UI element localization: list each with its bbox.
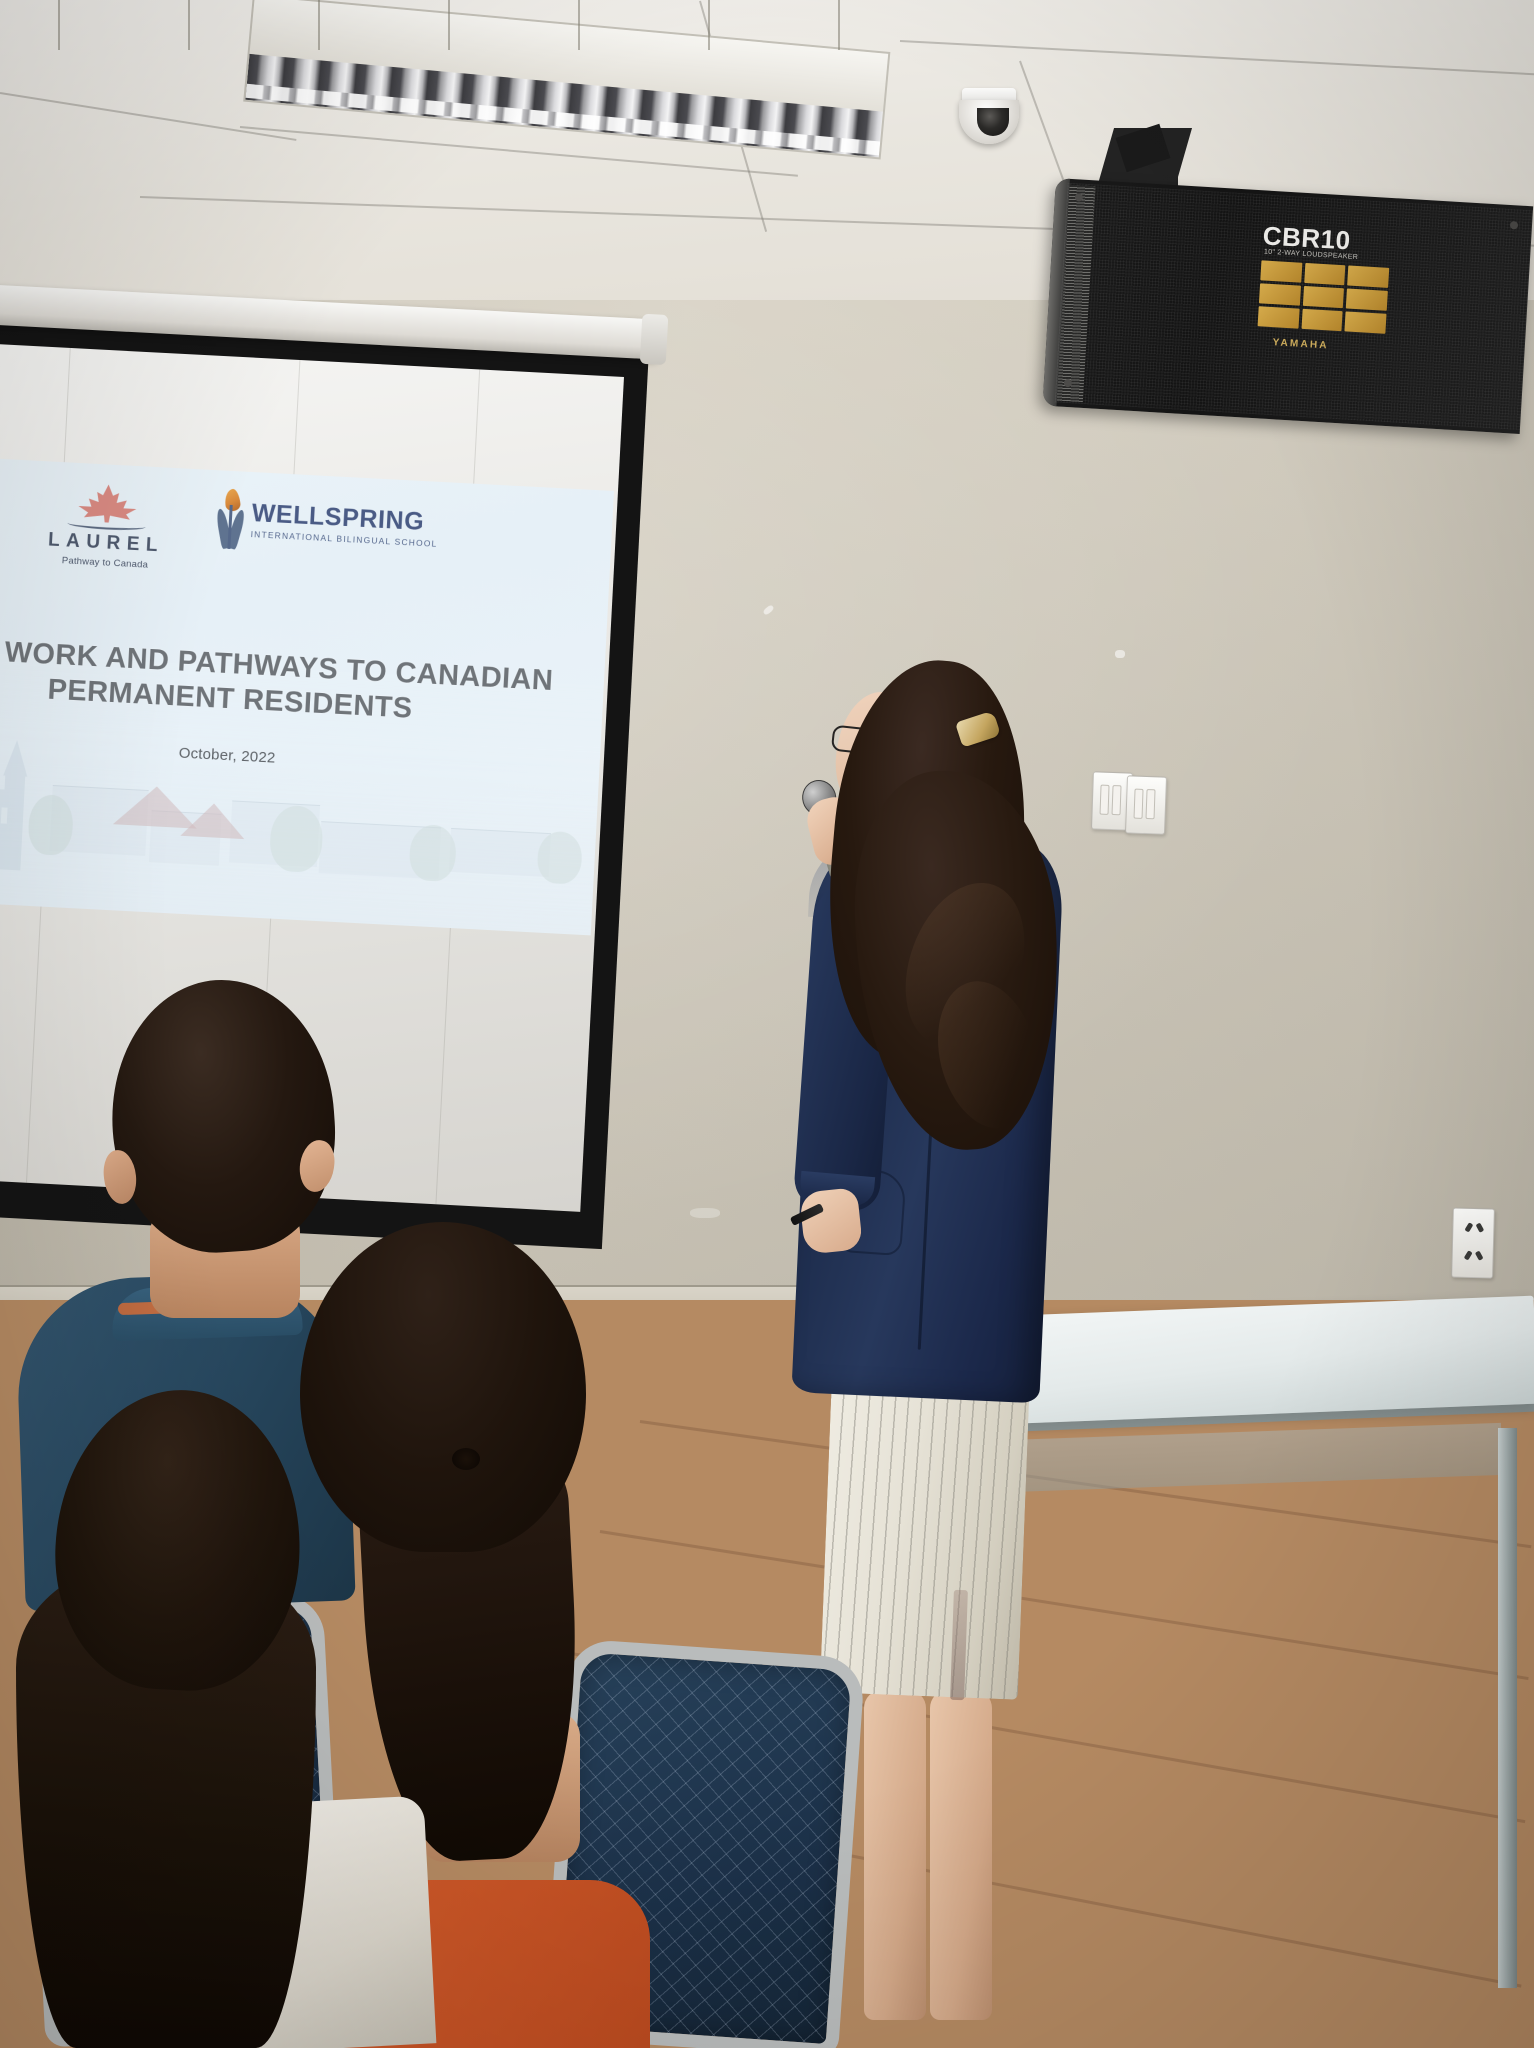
dado-grout-line — [188, 0, 190, 50]
presenter-leg — [864, 1690, 926, 2020]
table-leg — [1498, 1428, 1517, 1988]
dado-grout-line — [448, 0, 450, 50]
presenter-leg — [930, 1690, 992, 2020]
dado-grout-line — [578, 0, 580, 50]
dado-grout-line — [838, 0, 840, 50]
dado-grout-line — [318, 0, 320, 50]
wall-scuff — [1115, 650, 1125, 658]
laurel-logo: LAUREL Pathway to Canada — [38, 479, 176, 572]
outlet-slot — [1464, 1250, 1473, 1260]
audience-member-head — [300, 1222, 586, 1552]
switch-rocker[interactable] — [1146, 789, 1156, 819]
maple-leaf-icon — [74, 481, 142, 524]
slide-logo-row: LAUREL Pathway to Canada WELLSPRING INTE… — [0, 470, 613, 587]
wellspring-logo: WELLSPRING INTERNATIONAL BILINGUAL SCHOO… — [217, 488, 440, 559]
wellspring-text: WELLSPRING INTERNATIONAL BILINGUAL SCHOO… — [250, 501, 439, 549]
wall-scuff — [690, 1208, 720, 1218]
switch-rocker[interactable] — [1112, 785, 1122, 815]
hair-tie — [452, 1448, 480, 1470]
speaker-award-badge — [1258, 260, 1390, 333]
outlet-slot — [1464, 1222, 1473, 1232]
screen-case-endcap — [640, 314, 669, 365]
presenter-hand — [799, 1187, 863, 1255]
switch-rocker[interactable] — [1134, 789, 1144, 819]
outlet-slot — [1475, 1251, 1484, 1261]
torch-icon — [217, 488, 246, 549]
laurel-tagline: Pathway to Canada — [62, 555, 149, 571]
dado-grout-line — [708, 0, 710, 50]
photo-scene: LAUREL Pathway to Canada WELLSPRING INTE… — [0, 0, 1534, 2048]
wall-power-outlet[interactable] — [1451, 1207, 1495, 1278]
outlet-slot — [1476, 1223, 1485, 1233]
light-switch-plate[interactable] — [1125, 775, 1167, 834]
switch-rocker[interactable] — [1100, 785, 1110, 815]
presenter-skirt — [820, 1362, 1031, 1699]
projected-slide: LAUREL Pathway to Canada WELLSPRING INTE… — [0, 452, 614, 935]
wall-mounted-loudspeaker: CBR10 10" 2-WAY LOUDSPEAKER YAMAHA — [1042, 178, 1533, 434]
dado-grout-line — [58, 0, 60, 50]
laurel-wordmark: LAUREL — [47, 529, 164, 557]
